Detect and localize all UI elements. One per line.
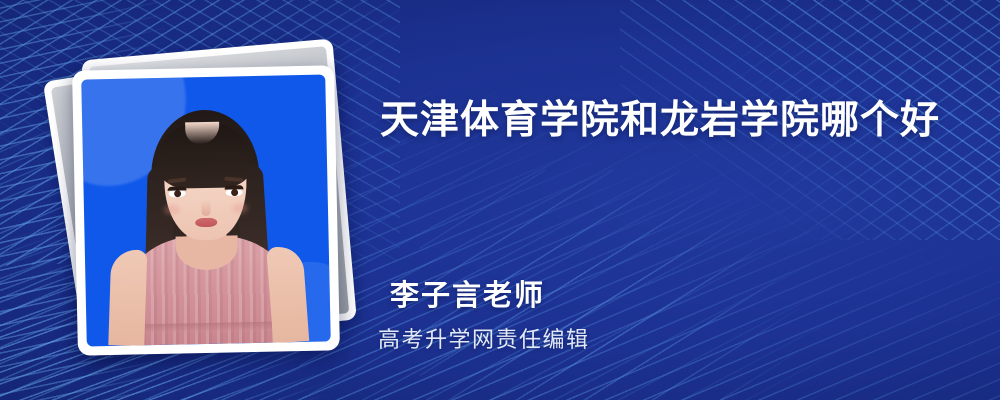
avatar (82, 89, 331, 346)
photo-card-front (72, 65, 340, 355)
page-title: 天津体育学院和龙岩学院哪个好 (380, 98, 940, 144)
portrait-photo-icon (81, 74, 331, 346)
stacked-photo-cards-icon (55, 35, 355, 355)
author-role: 高考升学网责任编辑 (378, 322, 590, 354)
eyelid-left (167, 186, 186, 190)
eyelid-right (224, 185, 243, 189)
nose (201, 200, 210, 216)
shoulder-left (108, 249, 147, 346)
shoulder-right (266, 245, 309, 343)
article-author-banner: 天津体育学院和龙岩学院哪个好 李子言老师 高考升学网责任编辑 (0, 0, 1000, 400)
lips (195, 218, 217, 227)
author-name: 李子言老师 (390, 272, 545, 314)
